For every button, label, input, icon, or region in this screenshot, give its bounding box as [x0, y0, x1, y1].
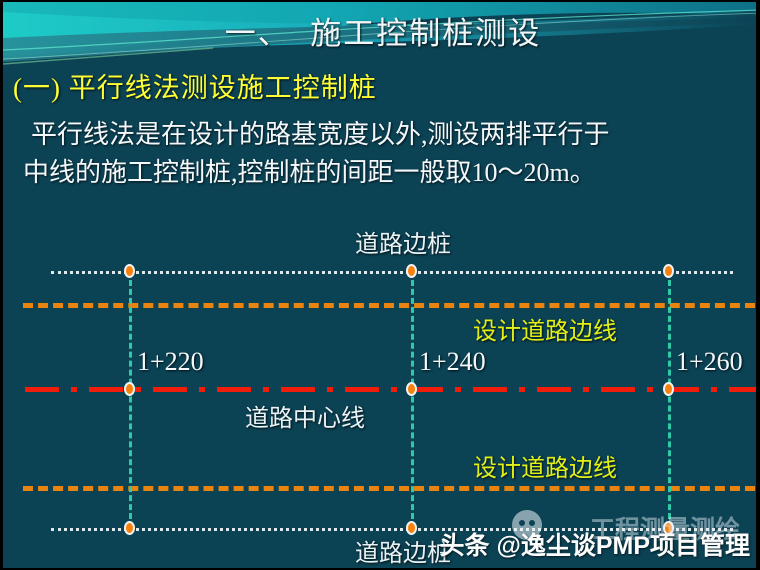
- label-design-edge-lower: 设计道路边线: [473, 448, 617, 483]
- survey-point-1-240-1[interactable]: [406, 382, 417, 396]
- pile-vertical-line-1-240: [411, 271, 414, 528]
- pile-vertical-line-1-260: [668, 271, 671, 528]
- station-label-1-220: 1+220: [137, 347, 204, 377]
- label-edge-pile-bottom: 道路边桩: [355, 533, 451, 568]
- label-design-edge-upper: 设计道路边线: [473, 311, 617, 346]
- body-paragraph-line-2: 中线的施工控制桩,控制桩的间距一般取10～20m。: [23, 152, 596, 189]
- label-edge-pile-top: 道路边桩: [355, 224, 451, 259]
- survey-point-1-220-0[interactable]: [124, 264, 135, 278]
- design-road-edge-line-top: [23, 303, 755, 308]
- station-label-1-240: 1+240: [419, 347, 486, 377]
- slide-canvas: 一、 施工控制桩测设 (一) 平行线法测设施工控制桩 平行线法是在设计的路基宽度…: [0, 0, 760, 570]
- station-label-1-260: 1+260: [676, 347, 743, 377]
- survey-point-1-220-1[interactable]: [124, 382, 135, 396]
- pile-vertical-line-1-220: [129, 271, 132, 528]
- survey-point-1-220-2[interactable]: [124, 521, 135, 535]
- slide-title: 一、 施工控制桩测设: [3, 8, 760, 53]
- design-road-edge-line-bottom: [23, 486, 755, 491]
- slide-subtitle: (一) 平行线法测设施工控制桩: [13, 66, 377, 105]
- survey-point-1-260-1[interactable]: [663, 382, 674, 396]
- watermark-primary: 头条 @逸尘谈PMP项目管理: [440, 526, 751, 562]
- edge-pile-line-top: [51, 271, 733, 274]
- survey-point-1-260-0[interactable]: [663, 264, 674, 278]
- body-paragraph-line-1: 平行线法是在设计的路基宽度以外,测设两排平行于: [31, 114, 610, 151]
- survey-point-1-240-0[interactable]: [406, 264, 417, 278]
- label-road-center-line: 道路中心线: [245, 398, 365, 433]
